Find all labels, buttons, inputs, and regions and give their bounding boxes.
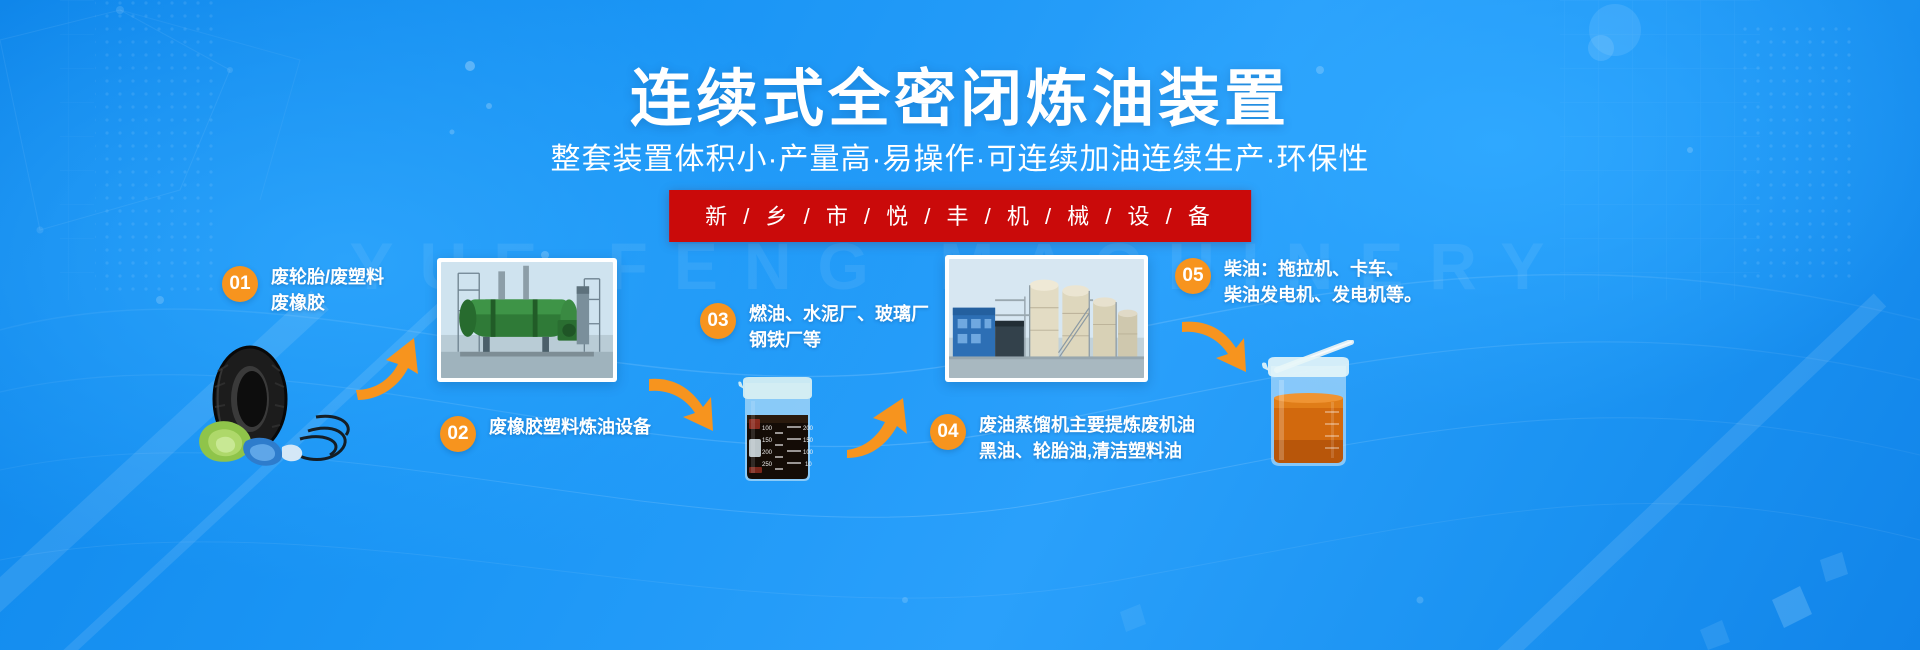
- step-label-04: 废油蒸馏机主要提炼废机油 黑油、轮胎油,清洁塑料油: [979, 413, 1195, 464]
- arrow-step4-to-step5: [1178, 320, 1254, 382]
- svg-text:250: 250: [762, 462, 773, 468]
- flow-step-05: 05 柴油：拖拉机、卡车、 柴油发电机、发电机等。: [1175, 257, 1422, 308]
- step-label-02: 废橡胶塑料炼油设备: [489, 415, 651, 441]
- flow-step-02: 02 废橡胶塑料炼油设备: [440, 415, 651, 452]
- step-label-03: 燃油、水泥厂、玻璃厂 钢铁厂等: [749, 302, 929, 353]
- promo-banner: YUE FENG MACHINERY 连续式全密闭炼油装置 整套装置体积小·产量…: [0, 0, 1920, 650]
- pyrolysis-reactor-photo: [437, 258, 617, 382]
- flow-step-03: 03 燃油、水泥厂、玻璃厂 钢铁厂等: [700, 302, 929, 353]
- step-badge-03: 03: [700, 303, 736, 339]
- svg-text:100: 100: [803, 450, 814, 456]
- page-title: 连续式全密闭炼油装置: [0, 48, 1920, 138]
- arrow-step3-to-step4: [843, 392, 917, 458]
- svg-text:150: 150: [803, 438, 814, 444]
- arrow-step2-to-step3: [645, 375, 721, 441]
- crude-oil-beaker-photo: 100 150 200 250 200 150 100 10: [735, 375, 820, 485]
- step-badge-01: 01: [222, 266, 258, 302]
- svg-text:100: 100: [762, 426, 773, 432]
- step-badge-05: 05: [1175, 258, 1211, 294]
- svg-text:150: 150: [762, 438, 773, 444]
- svg-text:200: 200: [762, 450, 773, 456]
- arrow-step1-to-step2: [352, 330, 424, 402]
- step-label-05: 柴油：拖拉机、卡车、 柴油发电机、发电机等。: [1224, 257, 1422, 308]
- flow-step-04: 04 废油蒸馏机主要提炼废机油 黑油、轮胎油,清洁塑料油: [930, 413, 1195, 464]
- step-label-01: 废轮胎/废塑料 废橡胶: [271, 265, 384, 316]
- svg-text:10: 10: [805, 462, 812, 468]
- distillation-plant-photo: [945, 255, 1148, 382]
- page-subtitle: 整套装置体积小·产量高·易操作·可连续加油连续生产·环保性: [0, 134, 1920, 178]
- diesel-beaker-photo: [1255, 340, 1360, 475]
- svg-text:200: 200: [803, 426, 814, 432]
- flow-step-01: 01 废轮胎/废塑料 废橡胶: [222, 265, 384, 316]
- step-badge-02: 02: [440, 416, 476, 452]
- waste-tires-plastic-photo: [188, 335, 363, 470]
- company-name-bar: 新 / 乡 / 市 / 悦 / 丰 / 机 / 械 / 设 / 备: [669, 190, 1251, 242]
- step-badge-04: 04: [930, 414, 966, 450]
